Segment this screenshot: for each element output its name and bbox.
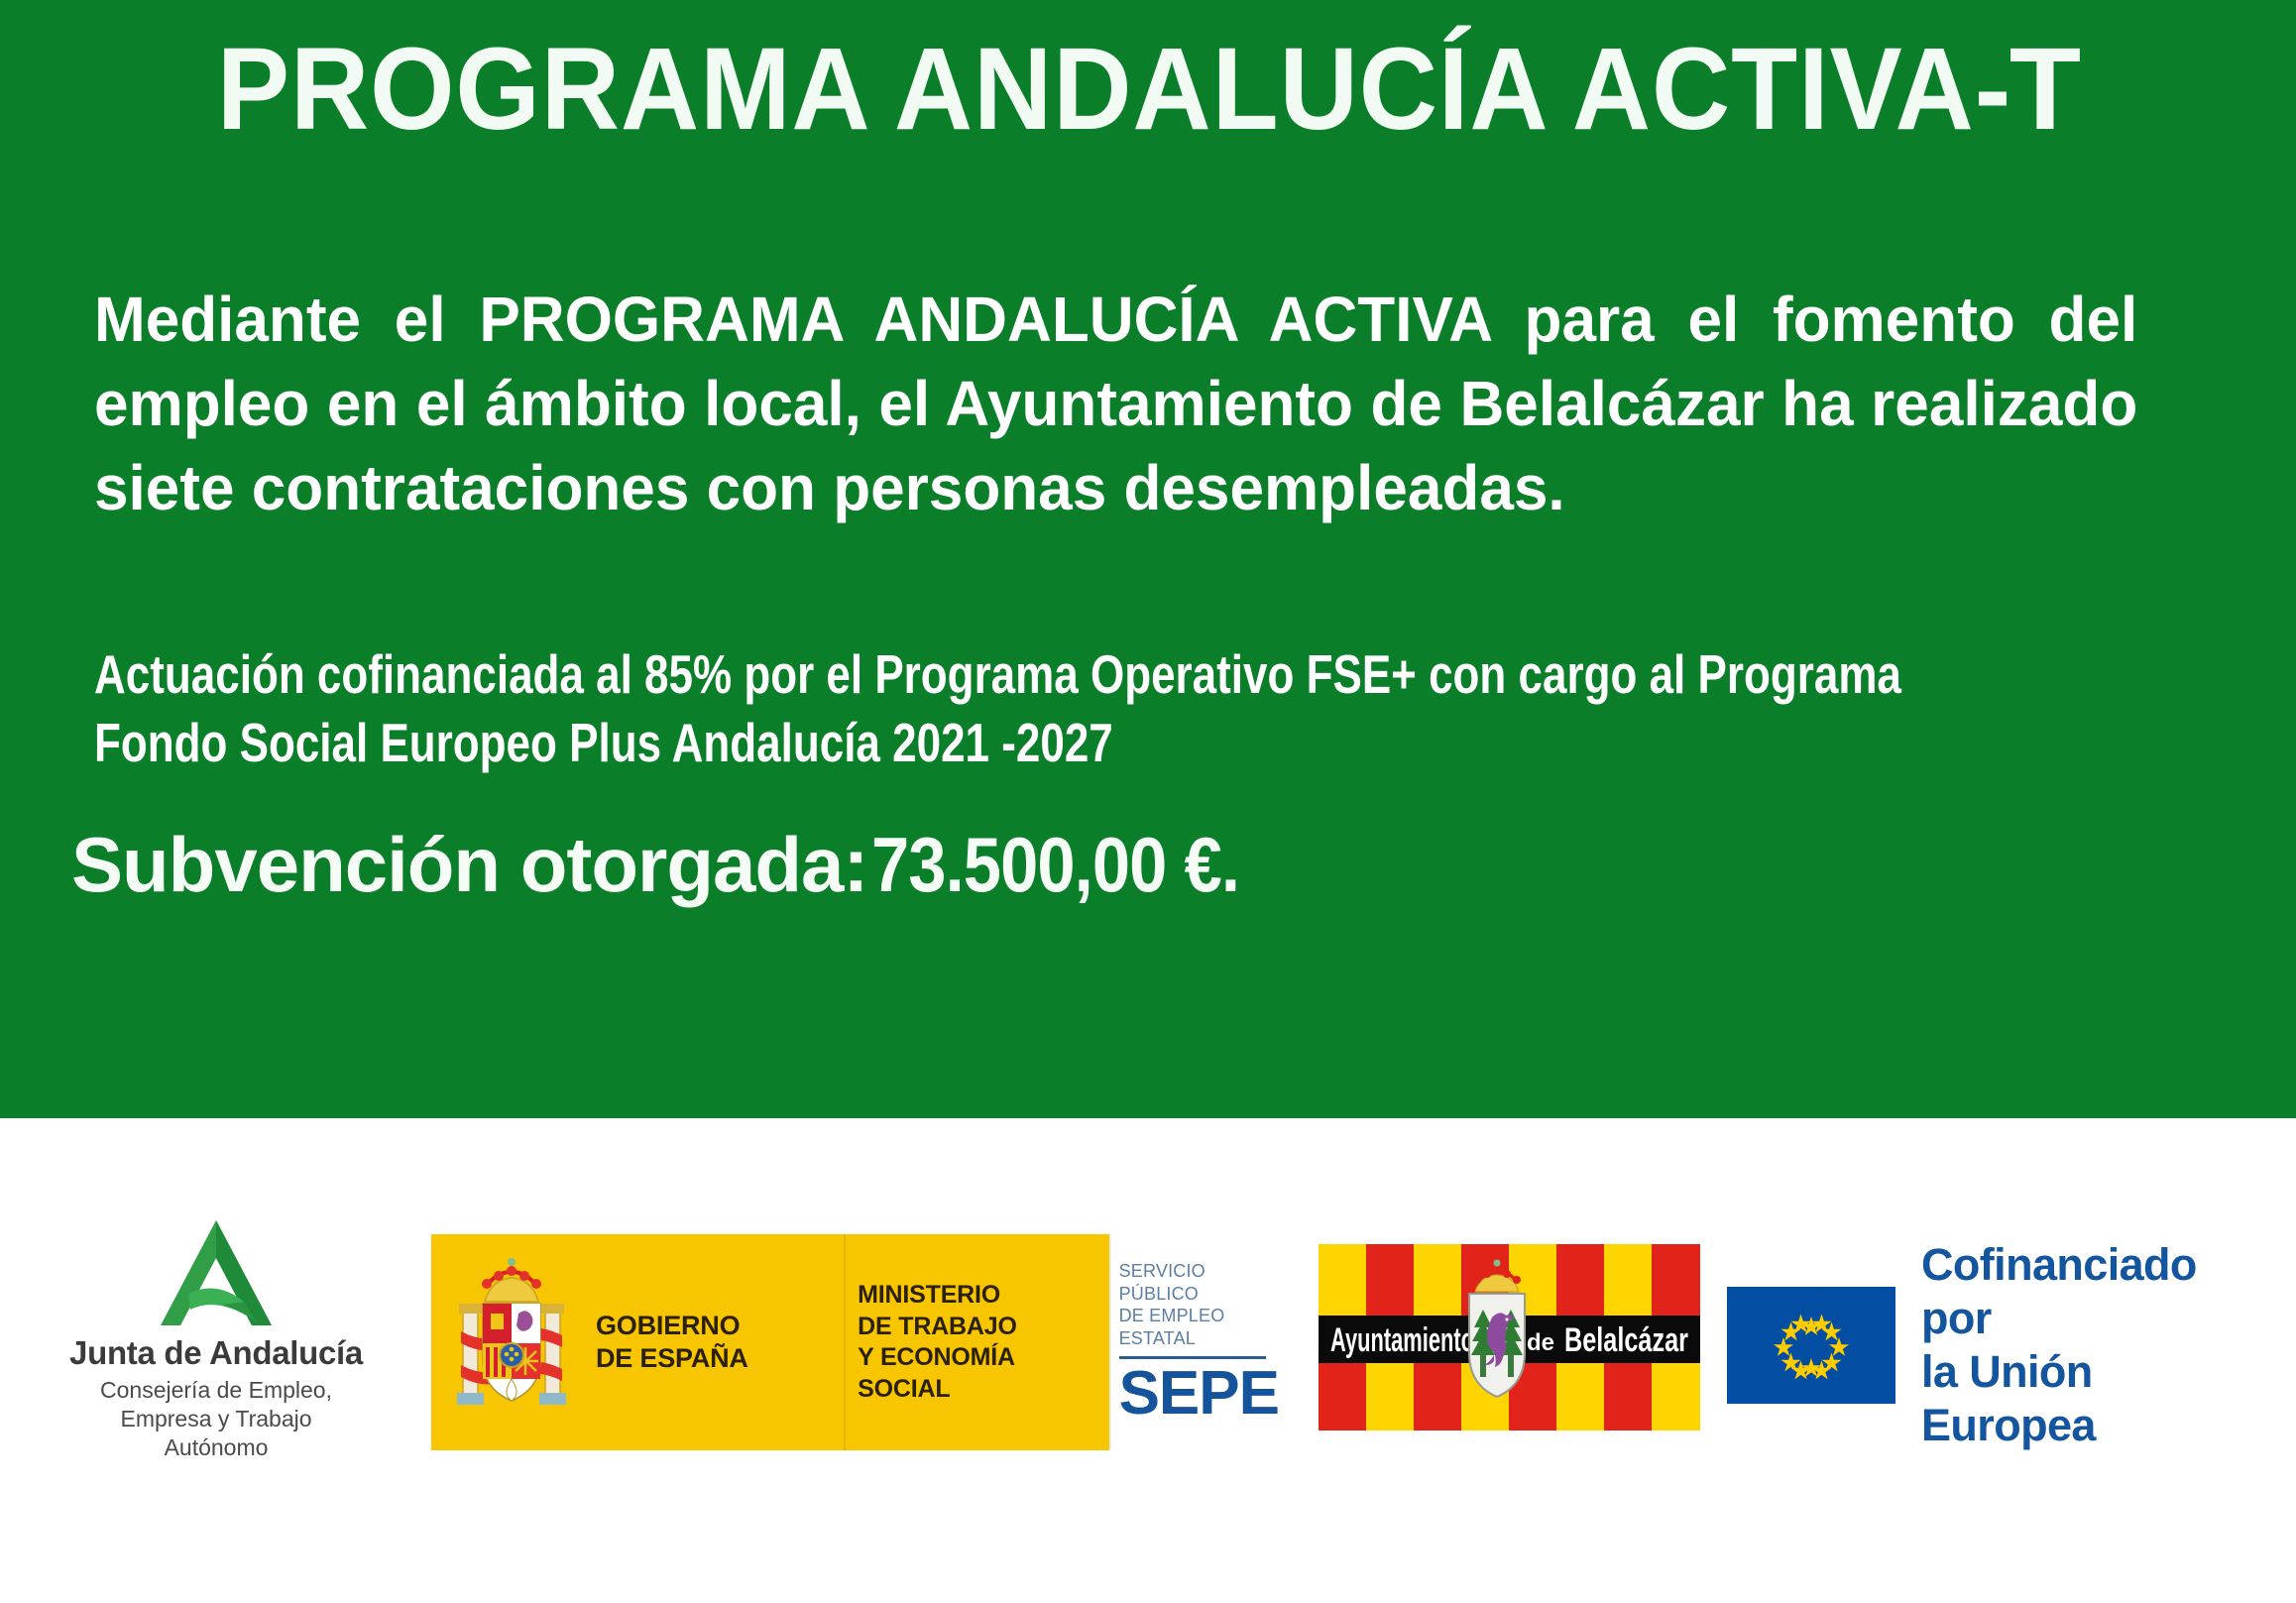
eu-flag-icon xyxy=(1727,1287,1895,1404)
green-content-panel: PROGRAMA ANDALUCÍA ACTIVA-T Mediante el … xyxy=(0,0,2296,1118)
cofinancing-line-2: Fondo Social Europeo Plus Andalucía 2021… xyxy=(94,711,1815,775)
subsidy-amount: 73.500,00 €. xyxy=(871,826,1239,903)
logo-gobierno-ministerio-sepe: GOBIERNO DE ESPAÑA MINISTERIO DE TRABAJO… xyxy=(431,1234,1279,1450)
body-text-block: Mediante el PROGRAMA ANDALUCÍA ACTIVA pa… xyxy=(94,278,2201,530)
poster-root: PROGRAMA ANDALUCÍA ACTIVA-T Mediante el … xyxy=(0,0,2296,1603)
subsidy-label: Subvención otorgada: xyxy=(71,826,867,903)
ministerio-text: MINISTERIO DE TRABAJO Y ECONOMÍA SOCIAL xyxy=(858,1280,1108,1405)
gobierno-de-espana-cell: GOBIERNO DE ESPAÑA xyxy=(431,1234,844,1450)
logo-union-europea: Cofinanciado por la Unión Europea xyxy=(1727,1271,2262,1420)
eu-caption-line-1: Cofinanciado por xyxy=(1921,1238,2262,1345)
junta-department-line-2: Empresa y Trabajo Autónomo xyxy=(67,1405,365,1462)
gobierno-line-1: GOBIERNO xyxy=(596,1310,748,1342)
belalcazar-coat-of-arms-icon xyxy=(1469,1260,1525,1398)
ministerio-line-2: DE TRABAJO xyxy=(858,1312,1108,1343)
logo-junta-de-andalucia: Junta de Andalucía Consejería de Empleo,… xyxy=(67,1214,365,1462)
page-title-main: PROGRAMA ANDALUCÍA ACTIVA- xyxy=(217,24,2011,155)
gobierno-text: GOBIERNO DE ESPAÑA xyxy=(596,1310,748,1375)
junta-name: Junta de Andalucía xyxy=(67,1335,365,1371)
ministerio-line-3: Y ECONOMÍA SOCIAL xyxy=(858,1342,1108,1405)
gobierno-line-2: DE ESPAÑA xyxy=(596,1342,748,1375)
sepe-cell: SERVICIO PÚBLICO DE EMPLEO ESTATAL SEPE xyxy=(1109,1234,1279,1450)
junta-department: Consejería de Empleo, Empresa y Trabajo … xyxy=(67,1376,365,1461)
ayuntamiento-flag-icon: Ayuntamiento de Belalcázar xyxy=(1319,1244,1700,1431)
eu-caption: Cofinanciado por la Unión Europea xyxy=(1921,1238,2262,1452)
sepe-subtitle: SERVICIO PÚBLICO DE EMPLEO ESTATAL xyxy=(1119,1260,1279,1349)
ayuntamiento-word-3: Belalcázar xyxy=(1564,1321,1688,1359)
cofinancing-block: Actuación cofinanciada al 85% por el Pro… xyxy=(94,642,2245,775)
logo-ayuntamiento-belalcazar: Ayuntamiento de Belalcázar xyxy=(1319,1244,1700,1431)
junta-department-line-1: Consejería de Empleo, xyxy=(67,1376,365,1405)
ministerio-cell: MINISTERIO DE TRABAJO Y ECONOMÍA SOCIAL xyxy=(844,1234,1108,1450)
subsidy-line: Subvención otorgada:73.500,00 €. xyxy=(71,826,1290,903)
sepe-acronym: SEPE xyxy=(1119,1363,1279,1425)
page-title-suffix: T xyxy=(2009,30,2081,149)
ayuntamiento-word-1: Ayuntamiento xyxy=(1330,1321,1474,1359)
junta-a-mark-icon xyxy=(67,1214,365,1331)
ministerio-line-1: MINISTERIO xyxy=(858,1280,1108,1312)
ayuntamiento-word-2: de xyxy=(1527,1329,1554,1356)
page-title: PROGRAMA ANDALUCÍA ACTIVA-T xyxy=(80,30,2216,149)
body-paragraph: Mediante el PROGRAMA ANDALUCÍA ACTIVA pa… xyxy=(94,278,2137,530)
cofinancing-line-1: Actuación cofinanciada al 85% por el Pro… xyxy=(94,642,1815,707)
eu-caption-line-2: la Unión Europea xyxy=(1921,1345,2262,1452)
sepe-line-1: SERVICIO PÚBLICO xyxy=(1119,1260,1279,1305)
escudo-de-espana-icon xyxy=(453,1256,570,1430)
sepe-line-2: DE EMPLEO ESTATAL xyxy=(1119,1305,1279,1349)
